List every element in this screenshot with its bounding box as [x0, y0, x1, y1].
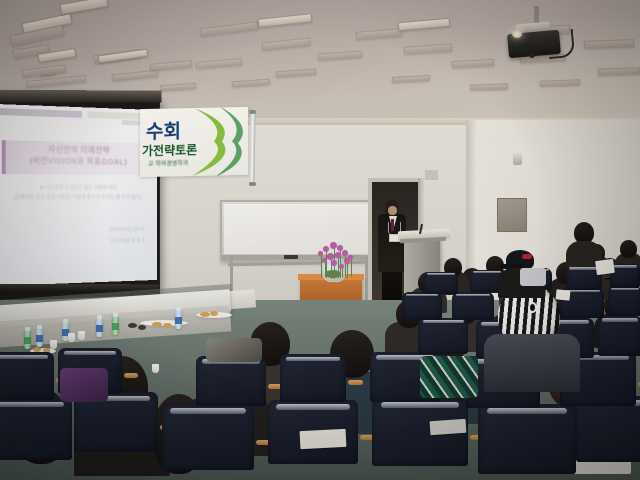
orchid-stem: [325, 263, 326, 277]
whiteboard-marker-icon: [284, 255, 298, 259]
seat-back: [196, 356, 266, 406]
auditorium-seat[interactable]: [598, 316, 640, 356]
person-shoulders: [484, 334, 580, 392]
auditorium-seat[interactable]: [402, 292, 442, 320]
handout-paper: [556, 289, 571, 300]
seat-back: [598, 316, 640, 356]
water-bottle: [112, 316, 119, 335]
paper-cup: [68, 333, 75, 342]
seat-back: [0, 352, 54, 400]
seat-armrest: [348, 380, 363, 385]
seat-back: [610, 264, 640, 288]
auditorium-seat[interactable]: [162, 404, 254, 470]
auditorium-seat[interactable]: [418, 318, 468, 354]
purple-bag: [60, 368, 108, 402]
bottle-cap: [25, 327, 30, 331]
snack-item: [128, 323, 137, 328]
seat-top-strip: [170, 408, 245, 414]
seat-top-strip: [276, 404, 350, 410]
seat-back: [402, 292, 442, 320]
bottle-cap: [176, 307, 181, 311]
water-bottle: [175, 310, 182, 329]
beanie-pattern-dot: [528, 302, 537, 313]
plaid-jacket: [420, 356, 478, 398]
seat-back: [280, 354, 346, 402]
seat-top-strip: [406, 294, 439, 297]
bottle-cap: [113, 313, 118, 317]
orchid-stem: [347, 264, 348, 278]
paper-cup: [78, 331, 85, 340]
bottle-label: [175, 317, 182, 324]
orchid-bloom: [327, 253, 334, 260]
slide-title-line2: (비전VISION과 목표GOAL): [0, 154, 157, 168]
bottle-label: [36, 335, 43, 342]
banner-line1: 수회: [146, 116, 181, 144]
cap-red-accent: [522, 254, 532, 259]
handout-paper: [595, 259, 615, 275]
seat-top-strip: [0, 402, 64, 408]
orchid-stem: [321, 256, 322, 277]
auditorium-seat[interactable]: [424, 272, 458, 294]
auditorium-seat[interactable]: [608, 286, 640, 316]
whiteboard: [220, 200, 374, 262]
snack-item: [163, 323, 172, 328]
slide-body-line1: ■ 기업경제 프로문즈 돕는 사람에 대한: [0, 183, 157, 191]
auditorium-seat[interactable]: [0, 398, 72, 460]
drink-can: [520, 268, 546, 286]
whiteboard-surface: [224, 204, 370, 254]
bottle-cap: [37, 325, 42, 329]
auditorium-photograph: 자신만의 미래전략 (비전VISION과 목표GOAL) ■ 기업경제 프로문즈…: [0, 0, 640, 480]
snack-item: [152, 322, 162, 327]
snack-item: [210, 311, 218, 316]
seat-top-strip: [602, 318, 638, 322]
av-control-panel[interactable]: [497, 198, 527, 232]
projector-knob: [529, 53, 535, 58]
seat-top-strip: [423, 320, 464, 323]
bottle-label: [24, 337, 31, 344]
white-cloth: [300, 429, 347, 449]
seat-back: [0, 398, 72, 460]
seat-top-strip: [613, 265, 638, 267]
banner-line2: 가전략토론: [142, 141, 197, 159]
seat-top-strip: [456, 294, 490, 297]
orchid-bloom: [330, 242, 337, 249]
auditorium-seat[interactable]: [280, 354, 346, 402]
presenter-face: [388, 206, 397, 215]
bottle-label: [112, 323, 119, 330]
presenter-legs: [382, 268, 402, 304]
snack-item: [138, 325, 146, 330]
seat-top-strip: [381, 402, 460, 408]
seat-top-strip: [487, 408, 567, 414]
snack-item: [200, 312, 210, 317]
seat-back: [452, 292, 494, 320]
seat-top-strip: [64, 351, 116, 355]
seat-top-strip: [286, 357, 340, 361]
banner-line3: 교 학여경영학과: [148, 158, 188, 168]
ceiling-speaker-icon: [513, 153, 522, 165]
bottle-label: [96, 325, 103, 332]
auditorium-seat[interactable]: [196, 356, 266, 406]
projection-screen: 자신만의 미래전략 (비전VISION과 목표GOAL) ■ 기업경제 프로문즈…: [0, 104, 157, 286]
slide-body-line2: (문해사며 답지 않은 사람은 가원게 할수의 조치도 볼 수가 없다): [0, 193, 157, 201]
water-bottle: [36, 328, 43, 347]
bottle-cap: [63, 319, 68, 323]
water-bottle: [24, 330, 31, 349]
tube-cap-top: [249, 110, 256, 114]
orchid-stem: [351, 260, 352, 277]
seat-back: [162, 404, 254, 470]
ceiling-light: [598, 67, 640, 75]
seat-top-strip: [427, 273, 455, 275]
auditorium-seat[interactable]: [478, 404, 576, 474]
seat-top-strip: [0, 355, 48, 359]
seat-back: [418, 318, 468, 354]
handout-paper: [430, 419, 467, 435]
water-bottle: [96, 318, 103, 337]
fur-trim-collar: [206, 338, 262, 362]
person-head: [620, 240, 637, 258]
slide-footer-line1: 한국타임어드연구소: [109, 226, 145, 233]
seat-top-strip: [473, 271, 501, 273]
wall-vent-icon: [425, 170, 438, 180]
seat-armrest: [124, 373, 138, 378]
auditorium-seat[interactable]: [0, 352, 54, 400]
auditorium-seat[interactable]: [452, 292, 494, 320]
tube-cap-bottom: [249, 182, 256, 186]
screen-top-rail: [0, 90, 162, 103]
paper-cup: [152, 364, 159, 373]
seat-back: [478, 404, 576, 474]
paper-cup: [50, 340, 57, 349]
seat-back: [424, 272, 458, 294]
orchid-stem: [342, 269, 343, 277]
slide-footer-line2: 인사관리팀 정 목 호: [110, 237, 146, 244]
orchid-stem: [334, 266, 335, 278]
seat-top-strip: [569, 267, 599, 269]
auditorium-seat[interactable]: [610, 264, 640, 288]
slide-band-left: [0, 108, 82, 118]
bottle-cap: [97, 315, 102, 319]
projector-lens: [512, 30, 522, 38]
seat-back: [608, 286, 640, 316]
event-banner: 수회 가전략토론 교 학여경영학과: [140, 107, 248, 177]
